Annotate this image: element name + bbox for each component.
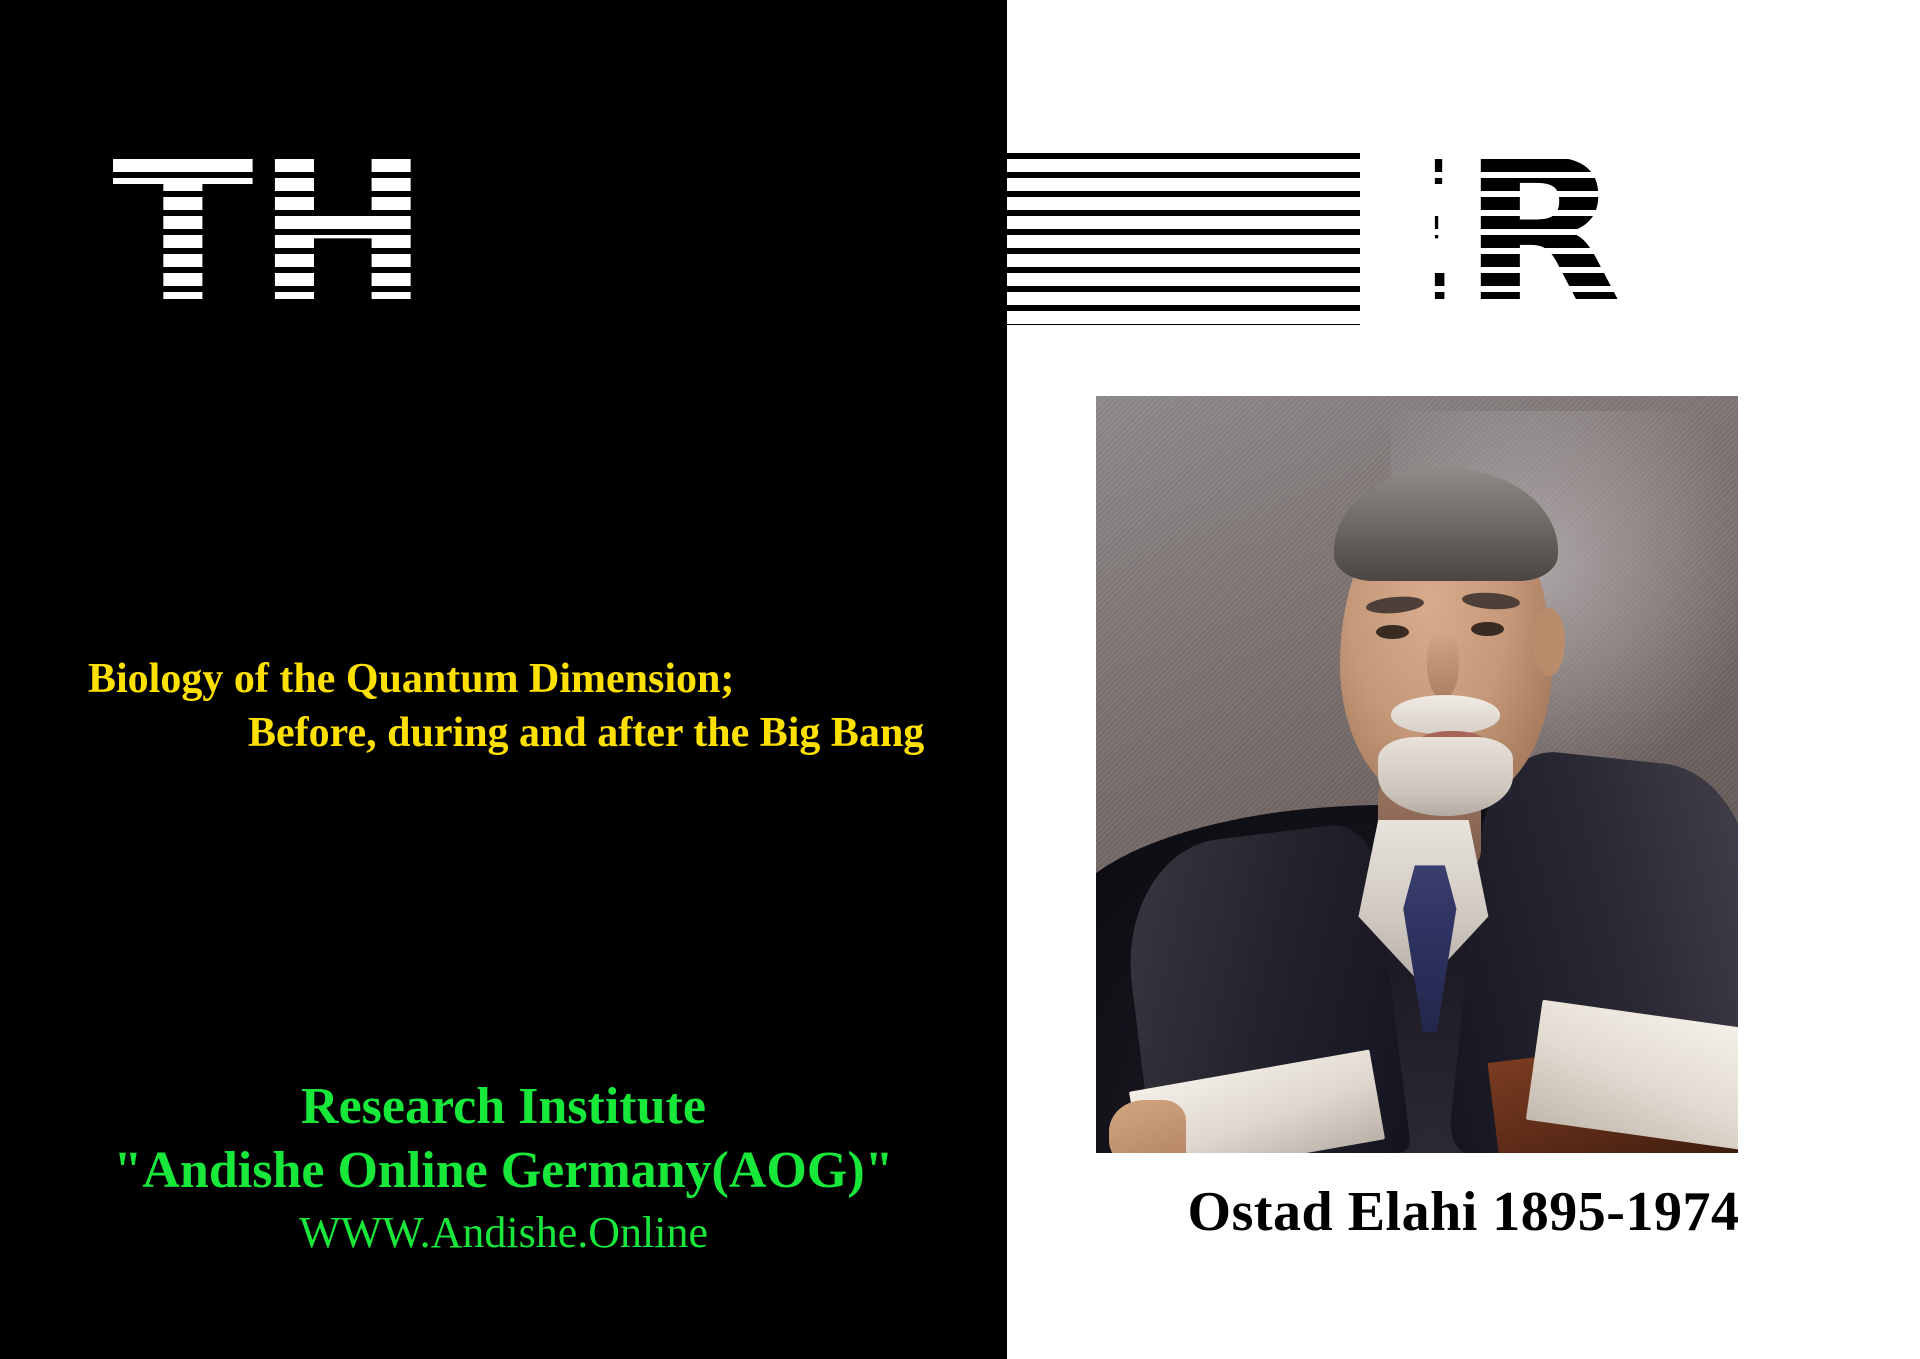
poster-canvas: THE MASTER THE MASTER Biology of the Qua…: [0, 0, 1920, 1359]
photo-beard: [1378, 737, 1513, 816]
poster-subtitle: Biology of the Quantum Dimension; Before…: [88, 652, 948, 760]
photo-caption: Ostad Elahi 1895-1974: [1007, 1180, 1920, 1244]
institute-line-1: Research Institute: [0, 1076, 1007, 1138]
photo-eye-right: [1471, 622, 1504, 636]
institute-website: WWW.Andishe.Online: [0, 1204, 1007, 1262]
photo-nose: [1427, 631, 1459, 699]
photo-subject-hand: [1109, 1100, 1186, 1153]
institute-line-2: "Andishe Online Germany(AOG)": [0, 1138, 1007, 1204]
subtitle-line-1: Biology of the Quantum Dimension;: [88, 656, 734, 702]
photo-eye-left: [1376, 625, 1409, 639]
portrait-photo: [1096, 396, 1738, 1153]
poster-title: THE MASTER THE MASTER: [112, 140, 1672, 325]
photo-moustache: [1391, 695, 1500, 734]
subtitle-line-2: Before, during and after the Big Bang: [88, 706, 948, 760]
institute-block: Research Institute "Andishe Online Germa…: [0, 1076, 1007, 1262]
photo-subject-ear: [1533, 608, 1565, 676]
